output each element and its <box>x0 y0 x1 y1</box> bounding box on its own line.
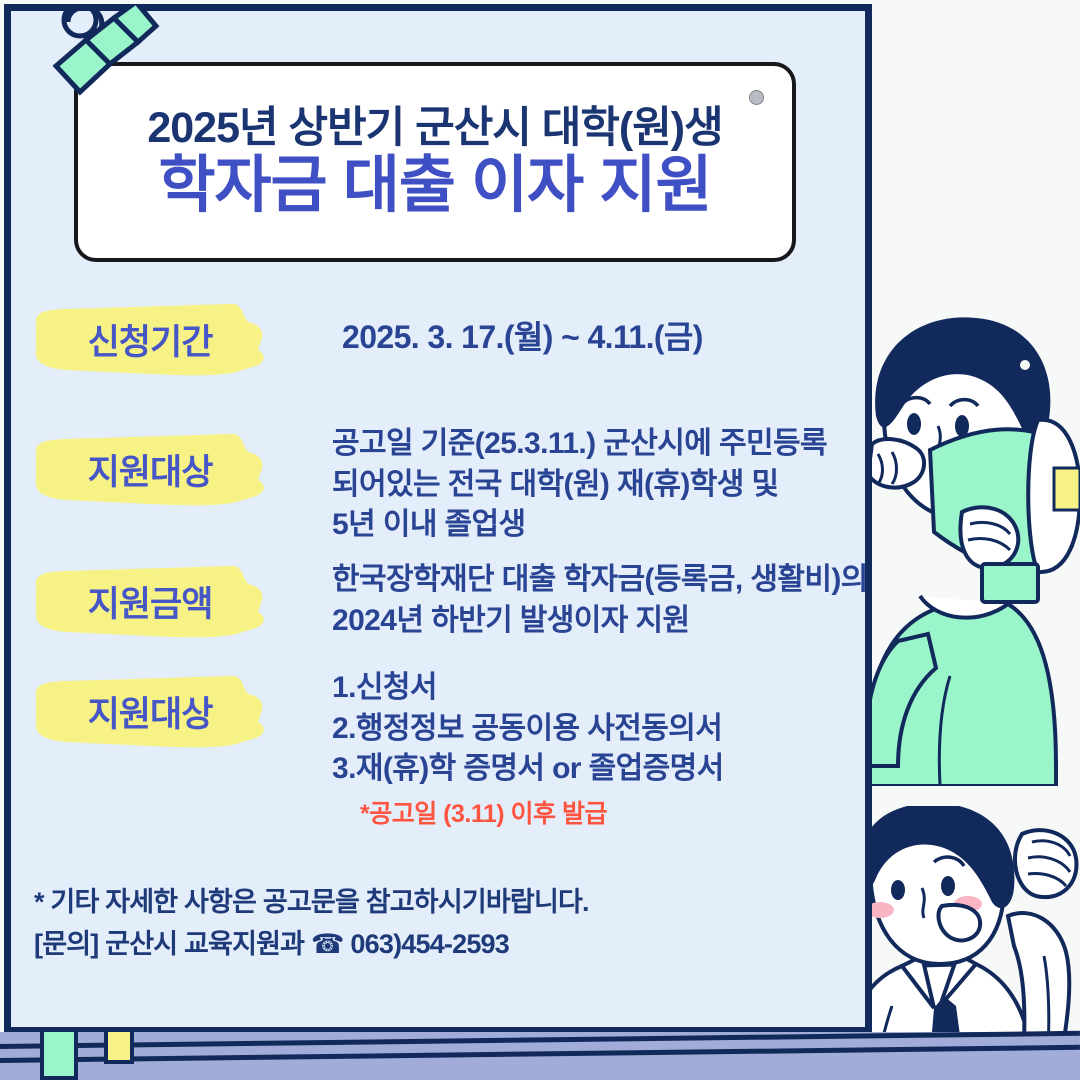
row-text-amount: 한국장학재단 대출 학자금(등록금, 생활비)의 2024년 하반기 발생이자 … <box>332 560 868 641</box>
title-line-2: 학자금 대출 이자 지원 <box>158 153 711 218</box>
row-text-documents: 1.신청서 2.행정정보 공동이용 사전동의서 3.재(휴)학 증명서 or 졸… <box>332 668 724 790</box>
sparkle-plus-icon <box>1008 348 1042 382</box>
title-line-1: 2025년 상반기 군산시 대학(원)생 <box>147 106 722 151</box>
poster-root: 2025년 상반기 군산시 대학(원)생 학자금 대출 이자 지원 신청기간 2… <box>0 0 1080 1080</box>
badge-documents: 지원대상 <box>30 672 282 750</box>
row-text-application-period: 2025. 3. 17.(월) ~ 4.11.(금) <box>342 316 703 359</box>
info-row-eligibility: 지원대상 공고일 기준(25.3.11.) 군산시에 주민등록 되어있는 전국 … <box>30 430 827 546</box>
badge-application-period: 신청기간 <box>30 300 282 378</box>
documents-note: *공고일 (3.11) 이후 발급 <box>360 794 724 830</box>
info-row-application-period: 신청기간 2025. 3. 17.(월) ~ 4.11.(금) <box>30 300 703 378</box>
badge-label: 지원대상 <box>88 686 213 737</box>
desk-line-2 <box>0 1045 1080 1063</box>
binder-clip-icon <box>34 4 164 114</box>
badge-label: 지원대상 <box>88 444 213 495</box>
punch-hole-icon <box>749 90 764 105</box>
desk-surface <box>0 1032 1080 1080</box>
badge-amount: 지원금액 <box>30 562 282 640</box>
footer-contact: [문의] 군산시 교육지원과 ☎ 063)454-2593 <box>34 924 589 966</box>
footer-block: * 기타 자세한 사항은 공고문을 참고하시기바랍니다. [문의] 군산시 교육… <box>34 882 589 966</box>
person-with-megaphone-illustration <box>858 296 1080 786</box>
badge-label: 지원금액 <box>88 576 213 627</box>
title-card: 2025년 상반기 군산시 대학(원)생 학자금 대출 이자 지원 <box>74 62 796 262</box>
sticky-tab-mint <box>40 1028 78 1080</box>
info-row-amount: 지원금액 한국장학재단 대출 학자금(등록금, 생활비)의 2024년 하반기 … <box>30 562 868 641</box>
badge-label: 신청기간 <box>88 314 213 365</box>
badge-eligibility: 지원대상 <box>30 430 282 508</box>
footer-note: * 기타 자세한 사항은 공고문을 참고하시기바랍니다. <box>34 882 589 924</box>
sticky-tab-yellow <box>104 1028 134 1064</box>
row-text-eligibility: 공고일 기준(25.3.11.) 군산시에 주민등록 되어있는 전국 대학(원)… <box>332 424 827 546</box>
info-row-documents: 지원대상 1.신청서 2.행정정보 공동이용 사전동의서 3.재(휴)학 증명서… <box>30 672 724 830</box>
